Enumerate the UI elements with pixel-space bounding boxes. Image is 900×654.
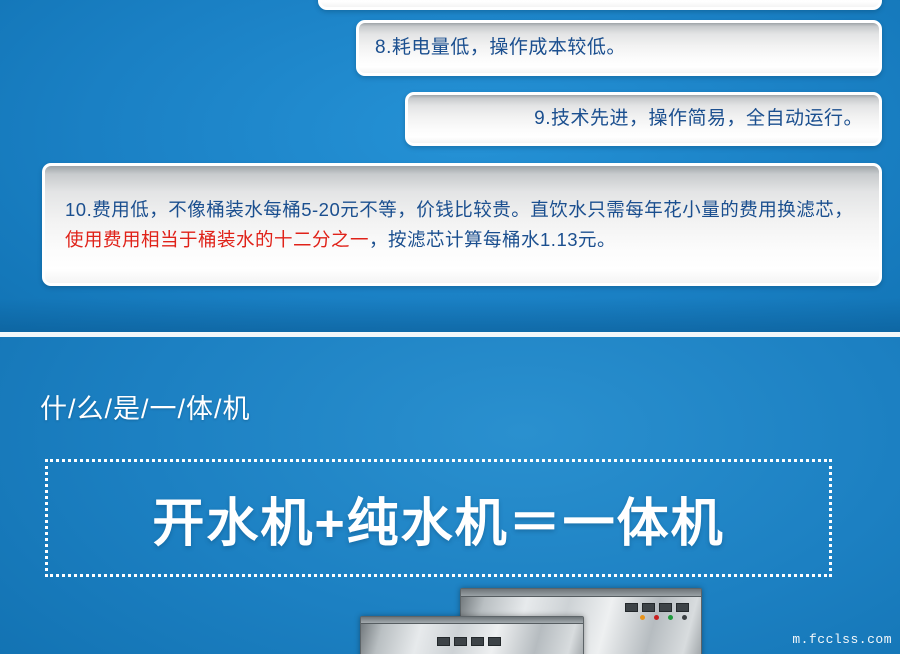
control-block-icon [659,603,672,612]
led-red-icon [654,615,659,620]
machine-back-led-row [640,615,687,620]
feature-box-9: 9.技术先进，操作简易，全自动运行。 [405,92,882,146]
site-watermark: m.fcclss.com [792,632,892,647]
machine-back-control-panel [625,603,689,612]
feature-box-7 [318,0,882,10]
machine-back-top-cap [461,589,701,597]
led-amber-icon [640,615,645,620]
control-block-icon [676,603,689,612]
equation-text: 开水机+纯水机＝一体机 [152,481,724,556]
page-root: 8.耗电量低，操作成本较低。 9.技术先进，操作简易，全自动运行。 10.费用低… [0,0,900,654]
water-machine-back [460,588,702,654]
feature-text-10-highlight: 使用费用相当于桶装水的十二分之一 [65,229,369,250]
feature-box-8: 8.耗电量低，操作成本较低。 [356,20,882,76]
equation-dashed-box: 开水机+纯水机＝一体机 [45,459,832,577]
machine-front-top-cap [361,617,583,624]
control-block-icon [454,637,467,646]
feature-text-10-before: 10.费用低，不像桶装水每桶5-20元不等，价钱比较贵。直饮水只需每年花小量的费… [65,199,853,220]
led-green-icon [668,615,673,620]
intro-title: 什/么/是/一/体/机 [40,387,251,426]
product-photo-group [0,594,900,654]
features-section: 8.耗电量低，操作成本较低。 9.技术先进，操作简易，全自动运行。 10.费用低… [0,0,900,332]
machine-front-control-panel [437,637,501,646]
feature-text-10: 10.费用低，不像桶装水每桶5-20元不等，价钱比较贵。直饮水只需每年花小量的费… [45,195,879,255]
control-block-icon [437,637,450,646]
intro-section: 什/么/是/一/体/机 开水机+纯水机＝一体机 [0,337,900,654]
water-machine-front [360,616,584,654]
feature-text-9: 9.技术先进，操作简易，全自动运行。 [518,106,879,133]
control-block-icon [625,603,638,612]
control-block-icon [488,637,501,646]
control-block-icon [471,637,484,646]
control-block-icon [642,603,655,612]
feature-box-10: 10.费用低，不像桶装水每桶5-20元不等，价钱比较贵。直饮水只需每年花小量的费… [42,163,882,286]
feature-text-10-after: ，按滤芯计算每桶水1.13元。 [369,229,616,250]
led-dark-icon [682,615,687,620]
feature-text-8: 8.耗电量低，操作成本较低。 [359,35,642,62]
